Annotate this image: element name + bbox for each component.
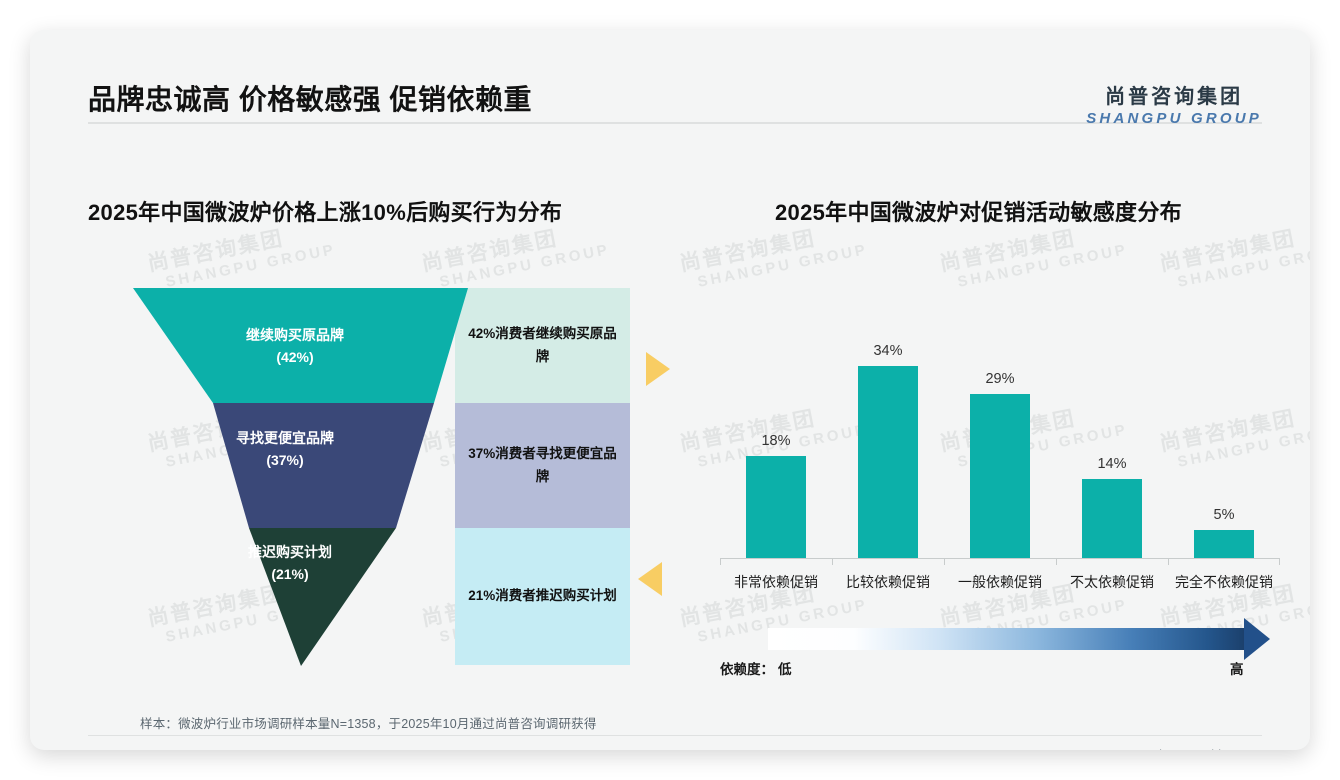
funnel-segment-name: 推迟购买计划	[248, 544, 332, 560]
legend-title: 依赖度：	[720, 658, 774, 678]
bar-rect[interactable]	[970, 394, 1030, 558]
footer-divider	[88, 735, 1262, 736]
page-title: 品牌忠诚高 价格敏感强 促销依赖重	[88, 78, 532, 118]
brand-logo: 尚普咨询集团 SHANGPU GROUP	[1086, 80, 1262, 127]
bar-category-label: 非常依赖促销	[720, 572, 832, 592]
bar-column[interactable]: 14%	[1082, 456, 1142, 558]
funnel-segment-value: (42%)	[276, 349, 313, 365]
bar-value-label: 14%	[1097, 456, 1126, 472]
funnel-chart-title: 2025年中国微波炉价格上涨10%后购买行为分布	[88, 195, 562, 227]
bar-category-label: 一般依赖促销	[944, 572, 1056, 592]
logo-english-text: SHANGPU GROUP	[1086, 110, 1262, 127]
bar-chart-title: 2025年中国微波炉对促销活动敏感度分布	[775, 195, 1182, 227]
gradient-bar	[768, 628, 1246, 650]
bar-rect[interactable]	[1082, 479, 1142, 558]
triangle-left-icon	[638, 562, 662, 596]
funnel-shape	[30, 30, 690, 750]
legend-high-label: 高	[1230, 658, 1244, 678]
bar-category-label: 完全不依赖促销	[1168, 572, 1280, 592]
legend-low-label: 低	[778, 658, 792, 678]
footer-copyright: ©2025.12 SHANGPU GROUP	[102, 748, 271, 750]
gradient-arrow-icon	[1244, 618, 1270, 660]
funnel-segment-label: 推迟购买计划 (21%)	[180, 542, 400, 585]
bar-chart-baseline	[720, 558, 1280, 559]
funnel-chart: 42%消费者继续购买原品牌 37%消费者寻找更便宜品牌 21%消费者推迟购买计划…	[30, 30, 690, 750]
bar-column[interactable]: 34%	[858, 343, 918, 558]
bar-rect[interactable]	[1194, 530, 1254, 558]
bar-rect[interactable]	[858, 366, 918, 558]
source-note: 样本：微波炉行业市场调研样本量N=1358，于2025年10月通过尚普咨询调研获…	[140, 713, 597, 732]
bar-value-label: 34%	[873, 343, 902, 359]
bar-rect[interactable]	[746, 456, 806, 558]
bar-value-label: 29%	[985, 371, 1014, 387]
bar-column[interactable]: 29%	[970, 371, 1030, 558]
slide-header: 品牌忠诚高 价格敏感强 促销依赖重 尚普咨询集团 SHANGPU GROUP	[30, 30, 1310, 122]
footer-website[interactable]: www.shangpu-china.com	[1123, 748, 1262, 750]
logo-chinese-text: 尚普咨询集团	[1086, 80, 1262, 109]
funnel-segment-value: (37%)	[266, 452, 303, 468]
bar-chart: 18% 34% 29% 14% 5% 非常依赖促销 比较依赖促销 一般依赖促销 …	[720, 260, 1280, 600]
funnel-segment-label: 寻找更便宜品牌 (37%)	[175, 428, 395, 471]
bar-category-label: 不太依赖促销	[1056, 572, 1168, 592]
slide-card: 尚普咨询集团SHANGPU GROUP 尚普咨询集团SHANGPU GROUP …	[30, 30, 1310, 750]
bar-column[interactable]: 18%	[746, 433, 806, 558]
dependency-gradient-legend: 依赖度： 低 高	[720, 622, 1280, 684]
funnel-segment-name: 寻找更便宜品牌	[236, 430, 334, 446]
funnel-segment-value: (21%)	[271, 566, 308, 582]
bar-value-label: 18%	[761, 433, 790, 449]
funnel-segment-label: 继续购买原品牌 (42%)	[185, 325, 405, 368]
bar-value-label: 5%	[1214, 507, 1235, 523]
bar-category-label: 比较依赖促销	[832, 572, 944, 592]
funnel-segment-name: 继续购买原品牌	[246, 327, 344, 343]
bar-column[interactable]: 5%	[1194, 507, 1254, 558]
triangle-right-icon	[646, 352, 670, 386]
